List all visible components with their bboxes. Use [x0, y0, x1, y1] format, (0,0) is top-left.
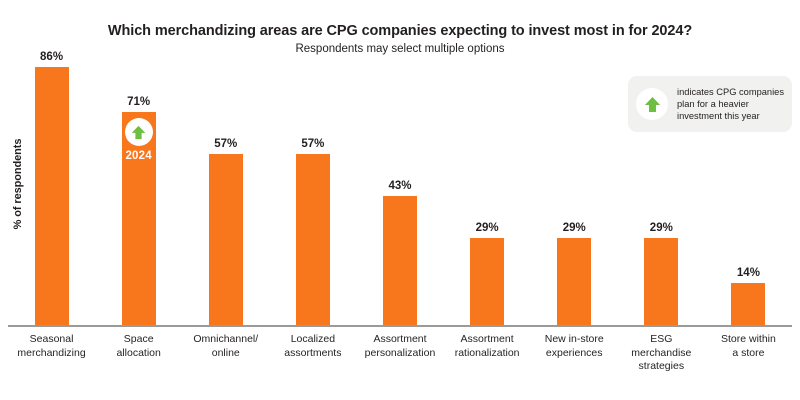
- bar-column: 29%: [618, 60, 705, 325]
- bar-column: 43%: [356, 60, 443, 325]
- bar[interactable]: 57%: [296, 154, 330, 325]
- bar-value-label: 14%: [737, 267, 760, 279]
- bar-value-label: 29%: [650, 222, 673, 234]
- title-block: Which merchandizing areas are CPG compan…: [0, 22, 800, 57]
- bar-value-label: 71%: [127, 96, 150, 108]
- bar-value-label: 29%: [476, 222, 499, 234]
- bar-column: 29%: [531, 60, 618, 325]
- bar-value-label: 43%: [388, 180, 411, 192]
- x-axis-tick-label: New in-storeexperiences: [531, 333, 618, 360]
- x-axis-line: [8, 325, 792, 327]
- bar-column: 71%2024: [95, 60, 182, 325]
- bar-column: 14%: [705, 60, 792, 325]
- x-axis-tick-label: Store withina store: [705, 333, 792, 360]
- x-axis-tick-label: Assortmentrationalization: [444, 333, 531, 360]
- arrow-up-icon: [125, 118, 153, 146]
- bar-column: 57%: [182, 60, 269, 325]
- highlight-year-label: 2024: [125, 150, 151, 162]
- bar[interactable]: 86%: [35, 67, 69, 325]
- bar[interactable]: 43%: [383, 196, 417, 325]
- x-axis-tick-label: Spaceallocation: [95, 333, 182, 360]
- page-title: Which merchandizing areas are CPG compan…: [0, 22, 800, 40]
- bar-value-label: 29%: [563, 222, 586, 234]
- bar-column: 29%: [444, 60, 531, 325]
- x-axis-tick-label: Omnichannel/online: [182, 333, 269, 360]
- plot-area: 86%71%202457%57%43%29%29%29%14%: [8, 60, 792, 325]
- bar-value-label: 86%: [40, 51, 63, 63]
- bar[interactable]: 29%: [644, 238, 678, 325]
- x-axis-tick-label: ESGmerchandisestrategies: [618, 333, 705, 374]
- highlight-badge: 2024: [125, 118, 153, 162]
- bar-column: 86%: [8, 60, 95, 325]
- bar[interactable]: 29%: [470, 238, 504, 325]
- bar-value-label: 57%: [214, 138, 237, 150]
- bar[interactable]: 14%: [731, 283, 765, 325]
- chart-subtitle: Respondents may select multiple options: [0, 41, 800, 57]
- bar[interactable]: 57%: [209, 154, 243, 325]
- x-axis-tick-label: Seasonalmerchandizing: [8, 333, 95, 360]
- x-axis-tick-label: Localizedassortments: [269, 333, 356, 360]
- bar[interactable]: 71%2024: [122, 112, 156, 325]
- x-axis-tick-label: Assortmentpersonalization: [356, 333, 443, 360]
- bar[interactable]: 29%: [557, 238, 591, 325]
- chart-container: Which merchandizing areas are CPG compan…: [0, 0, 800, 400]
- bar-value-label: 57%: [301, 138, 324, 150]
- x-axis-tick-labels: SeasonalmerchandizingSpaceallocationOmni…: [8, 333, 792, 395]
- bar-column: 57%: [269, 60, 356, 325]
